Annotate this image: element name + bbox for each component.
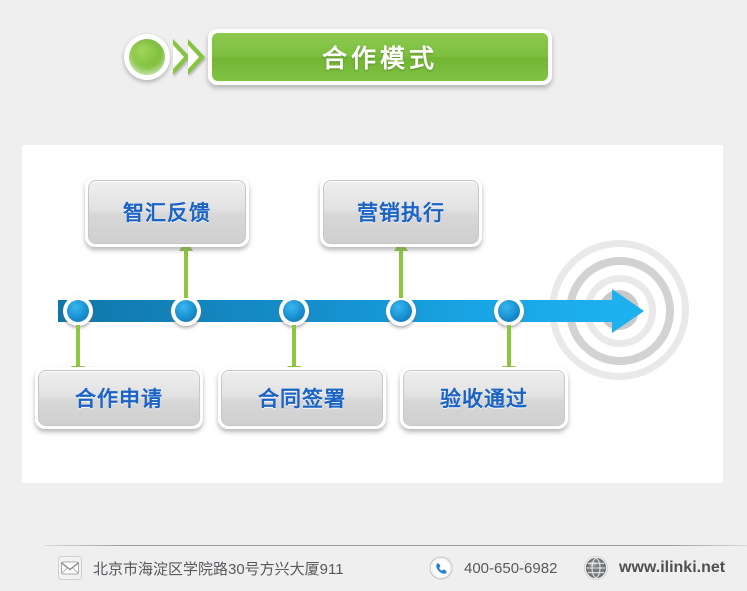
green-circle-icon: [124, 34, 170, 80]
header-title-bar-inner: 合作模式: [212, 33, 548, 81]
connector-up-node4: [399, 250, 403, 298]
timeline-bar: [58, 300, 616, 322]
header-title-bar: 合作模式: [208, 29, 552, 85]
connector-up-node2: [184, 250, 188, 298]
timeline-node-4[interactable]: [386, 296, 416, 326]
step-label: 合作申请: [75, 383, 163, 413]
envelope-icon: [57, 555, 83, 581]
connector-down-node3: [292, 325, 296, 367]
connector-down-node1: [76, 325, 80, 367]
timeline-node-3[interactable]: [279, 296, 309, 326]
footer-website-text: www.ilinki.net: [619, 559, 725, 577]
step-box-inner: 验收通过: [403, 370, 565, 426]
footer-divider: [45, 545, 747, 546]
footer-website-block[interactable]: www.ilinki.net: [583, 555, 725, 581]
globe-icon: [583, 555, 609, 581]
step-box-yanshou-tongguo[interactable]: 验收通过: [400, 367, 568, 429]
step-label: 合同签署: [258, 383, 346, 413]
step-box-inner: 合同签署: [221, 370, 383, 426]
footer-phone-block: 400-650-6982: [428, 555, 557, 581]
connector-down-node5: [507, 325, 511, 367]
step-box-yingxiao-zhixing[interactable]: 营销执行: [320, 177, 482, 247]
step-box-hezuo-shenqing[interactable]: 合作申请: [35, 367, 203, 429]
page-title: 合作模式: [322, 39, 438, 75]
timeline-node-2[interactable]: [171, 296, 201, 326]
diagram-panel: 智汇反馈 营销执行 合作申请 合同签署 验收通过: [22, 145, 723, 483]
step-label: 智汇反馈: [123, 197, 211, 227]
footer-phone-text: 400-650-6982: [464, 560, 557, 577]
footer-address-text: 北京市海淀区学院路30号方兴大厦911: [93, 558, 344, 579]
timeline-node-5[interactable]: [494, 296, 524, 326]
double-chevron-icon-second: [188, 39, 205, 75]
step-box-inner: 智汇反馈: [88, 180, 246, 244]
timeline-arrowhead-icon: [612, 289, 644, 333]
header-banner: 合作模式: [124, 29, 552, 85]
timeline-node-1[interactable]: [63, 296, 93, 326]
step-label: 营销执行: [357, 197, 445, 227]
step-box-hetong-qianshu[interactable]: 合同签署: [218, 367, 386, 429]
step-box-inner: 营销执行: [323, 180, 479, 244]
step-label: 验收通过: [440, 383, 528, 413]
phone-icon: [428, 555, 454, 581]
footer-address-block: 北京市海淀区学院路30号方兴大厦911: [57, 555, 344, 581]
step-box-inner: 合作申请: [38, 370, 200, 426]
step-box-zhihui-fankui[interactable]: 智汇反馈: [85, 177, 249, 247]
